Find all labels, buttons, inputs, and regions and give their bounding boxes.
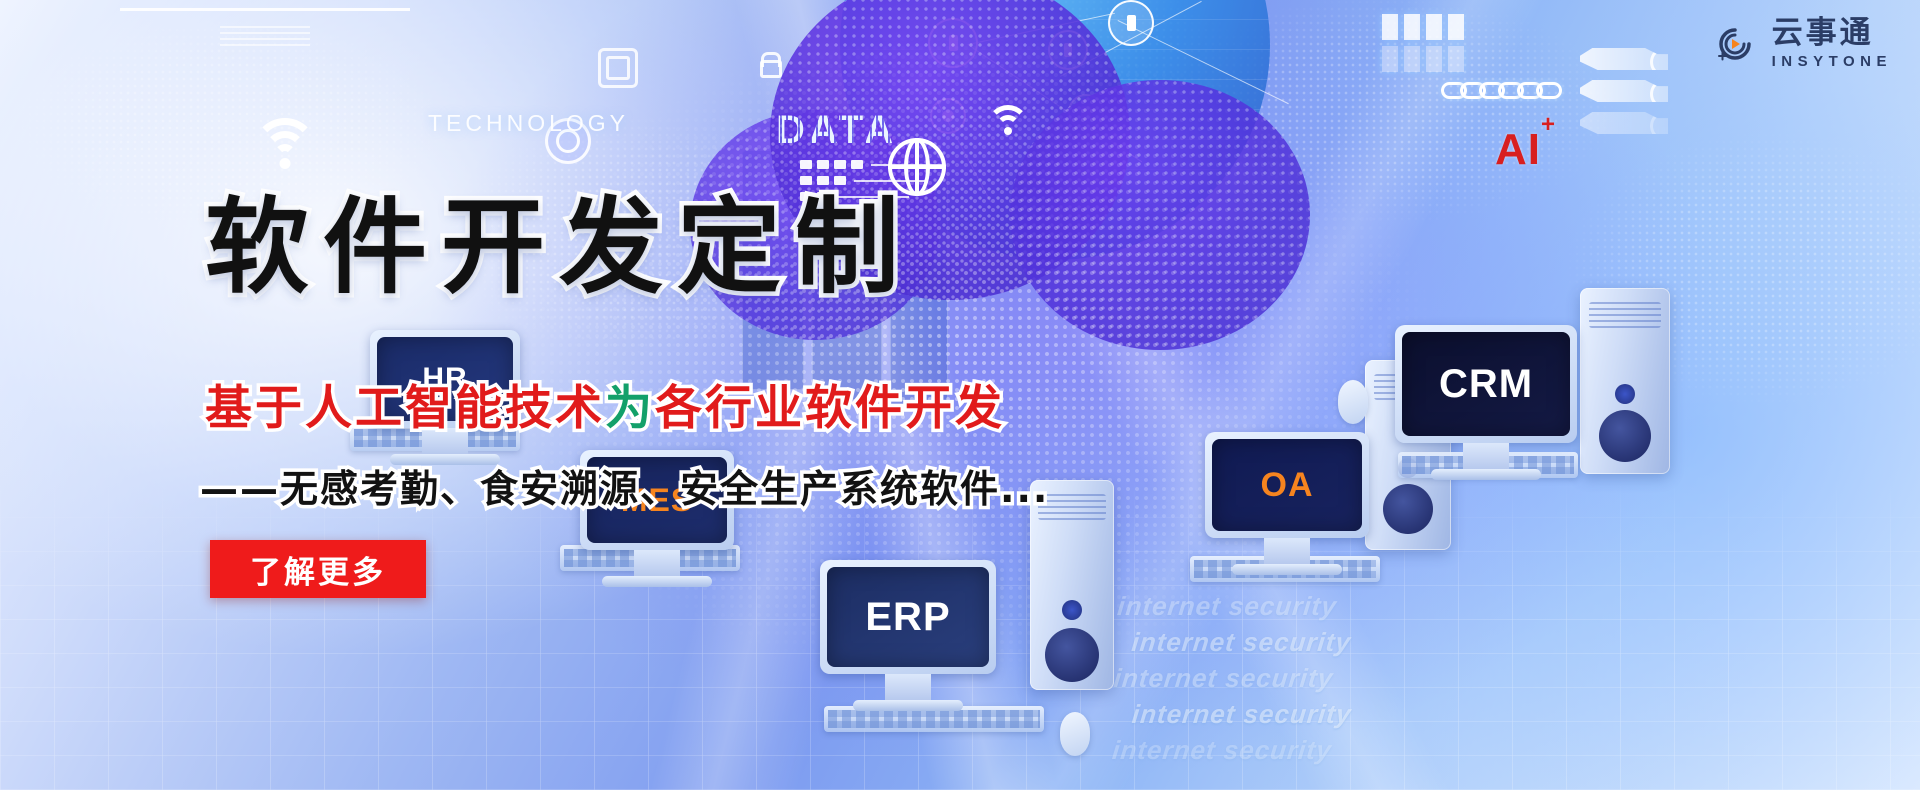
insytone-circle-play-icon [1710, 19, 1760, 69]
promo-banner: AI+ TECHNOLOGY DATA internet security in… [0, 0, 1920, 790]
watermark-line: internet security [1112, 660, 1357, 696]
screen-label-erp: ERP [865, 595, 950, 640]
watermark-line: internet security [1130, 624, 1361, 660]
technology-word: TECHNOLOGY [428, 110, 629, 137]
lock-icon [760, 60, 782, 78]
wifi-small-icon [985, 105, 1031, 139]
page-title: 软件开发定制 [205, 195, 913, 299]
computer-tower-crm [1580, 288, 1670, 474]
monitor-crm: CRM [1395, 325, 1577, 480]
chip-square-icon [598, 48, 638, 88]
brand-logo[interactable]: 云事通 INSYTONE [1710, 18, 1892, 69]
watermark-line: internet security [1116, 588, 1365, 624]
hud-bars-decoration [1580, 48, 1668, 144]
data-word: DATA [776, 108, 897, 153]
hud-ticks-decoration [220, 26, 310, 50]
subtitle-part-1: 基于人工智能技术 [205, 381, 605, 436]
mouse [1338, 380, 1368, 424]
logo-name-cn: 云事通 [1772, 18, 1892, 49]
computer-tower-erp [1030, 480, 1114, 690]
monitor-oa: OA [1205, 432, 1369, 575]
logo-name-en: INSYTONE [1772, 54, 1892, 69]
ai-plus-superscript: + [1541, 111, 1556, 138]
subtitle: 基于人工智能技术为各行业软件开发 [205, 385, 1005, 432]
screen-label-crm: CRM [1439, 362, 1533, 407]
monitor-erp: ERP [820, 560, 996, 711]
cloud-decoration [1010, 80, 1310, 350]
mouse [1060, 712, 1090, 756]
subtitle-part-3: 各行业软件开发 [655, 381, 1005, 436]
screen-label-oa: OA [1261, 466, 1314, 505]
pixel-blocks-decoration [1382, 14, 1464, 72]
tagline: ——无感考勤、食安溯源、安全生产系统软件... [200, 470, 1049, 508]
chain-link-icons [1448, 82, 1562, 99]
ai-text: AI [1495, 125, 1541, 174]
ai-plus-label: AI+ [1495, 128, 1556, 172]
learn-more-button[interactable]: 了解更多 [210, 540, 426, 598]
subtitle-part-2: 为 [605, 381, 655, 436]
wifi-icon [250, 118, 320, 170]
watermark-line: internet security [1130, 696, 1353, 732]
watermark-line: internet security [1111, 732, 1350, 768]
internet-security-watermark: internet security internet security inte… [1101, 588, 1365, 768]
phone-node-icon [1108, 0, 1154, 46]
